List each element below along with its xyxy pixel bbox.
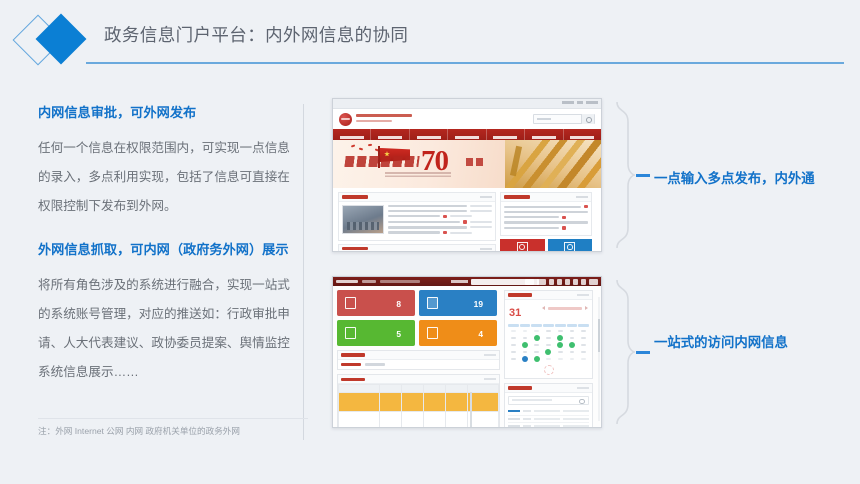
list-search-input[interactable] <box>508 396 589 405</box>
calendar-day[interactable] <box>567 349 578 355</box>
search-label <box>451 280 468 283</box>
calendar-panel: 31 <box>504 290 593 379</box>
dashboard-body: 8 19 5 <box>333 286 601 428</box>
gear-icon <box>517 242 528 252</box>
dashboard-toolbar-icons <box>525 279 598 285</box>
calendar-day-event[interactable] <box>555 342 566 348</box>
table-column-header[interactable] <box>468 385 499 392</box>
calendar-grid <box>505 322 592 365</box>
portal-nav-bar[interactable] <box>333 129 601 140</box>
side-list <box>508 408 589 428</box>
calendar-day-event[interactable] <box>567 342 578 348</box>
grid-icon[interactable] <box>573 279 578 285</box>
quick-action-tiles <box>500 239 592 252</box>
table-header-row <box>339 385 499 392</box>
calendar-day[interactable] <box>508 356 519 362</box>
table-column-header[interactable] <box>339 385 380 392</box>
brace-top <box>614 100 636 250</box>
brace-bottom <box>614 278 636 426</box>
calendar-day[interactable] <box>543 342 554 348</box>
block-tab-label[interactable] <box>504 195 530 198</box>
progress-bar <box>470 411 472 428</box>
refresh-icon[interactable] <box>525 279 534 285</box>
calendar-day-event[interactable] <box>531 356 542 362</box>
weekday-header <box>508 324 519 327</box>
calendar-day[interactable] <box>508 335 519 341</box>
block-body <box>339 202 495 240</box>
table-row[interactable] <box>339 411 499 428</box>
logo <box>18 16 94 64</box>
panel-header <box>505 384 592 393</box>
mail-icon[interactable] <box>557 279 562 285</box>
user-icon[interactable] <box>581 279 586 285</box>
browser-menu-icons <box>562 101 598 104</box>
stat-value: 5 <box>396 329 401 339</box>
chevron-right-icon[interactable] <box>585 306 588 310</box>
more-link[interactable] <box>484 354 496 356</box>
search-icon[interactable] <box>579 399 585 405</box>
more-link[interactable] <box>576 196 588 198</box>
quick-action-tile-affairs[interactable] <box>500 239 545 252</box>
user-icon <box>564 242 575 252</box>
screenshot-government-portal[interactable]: 70 <box>332 98 602 252</box>
callout-label-top: 一点输入多点发布，内外通 <box>654 167 815 187</box>
calendar-day[interactable] <box>555 328 566 334</box>
calendar-day[interactable] <box>567 335 578 341</box>
more-link[interactable] <box>480 196 492 198</box>
list-item[interactable] <box>388 210 492 212</box>
table-row[interactable] <box>339 392 499 411</box>
calendar-month-nav <box>542 303 588 310</box>
heading-external-capture: 外网信息抓取，可内网（政府务外网）展示 <box>38 237 296 263</box>
task-table-panel <box>337 374 500 428</box>
calendar-day[interactable] <box>567 356 578 362</box>
portal-logo-icon <box>339 113 352 126</box>
panel-tab-label[interactable] <box>508 386 532 389</box>
list-item[interactable] <box>504 216 588 219</box>
list-item[interactable] <box>504 211 588 213</box>
search-placeholder <box>512 399 552 401</box>
stat-card-grid: 8 19 5 <box>337 290 500 346</box>
menu-bar-icon <box>586 101 598 104</box>
column-divider <box>303 104 304 440</box>
calendar-day[interactable] <box>508 349 519 355</box>
calendar-badge-icon <box>544 365 554 375</box>
list-item[interactable] <box>388 220 492 223</box>
list-item[interactable] <box>388 205 492 207</box>
calendar-day-event[interactable] <box>543 349 554 355</box>
calendar-day[interactable] <box>520 335 531 341</box>
banner-year-text <box>466 158 485 166</box>
list-item[interactable] <box>504 226 588 229</box>
copy-icon <box>427 327 438 339</box>
paragraph-internal-approval: 任何一个信息在权限范围内，可实现一点信息的录入，多点利用实现，包括了信息可直接在… <box>38 134 296 221</box>
page-header: 政务信息门户平台：内外网信息的协同 <box>0 0 860 78</box>
calendar-day[interactable] <box>520 328 531 334</box>
filter-chip-row <box>338 360 499 369</box>
search-list-panel <box>504 383 593 428</box>
calendar-day[interactable] <box>543 356 554 362</box>
portal-site-name <box>356 114 412 122</box>
callout-connector-bottom <box>636 351 650 354</box>
calendar-day[interactable] <box>531 349 542 355</box>
page-title: 政务信息门户平台：内外网信息的协同 <box>104 22 408 47</box>
list-item[interactable] <box>388 215 492 218</box>
stat-value: 8 <box>396 299 401 309</box>
calendar-month-label <box>548 307 582 310</box>
list-item[interactable] <box>388 231 492 234</box>
birds-icon <box>351 144 381 152</box>
dashboard-top-bar <box>333 277 601 286</box>
chevron-left-icon[interactable] <box>542 306 545 310</box>
list-item[interactable] <box>388 226 492 228</box>
weekday-header <box>567 324 578 327</box>
block-tab-label[interactable] <box>342 247 368 250</box>
calendar-day[interactable] <box>520 349 531 355</box>
calendar-day[interactable] <box>578 328 589 334</box>
monument-illustration <box>505 140 601 188</box>
task-table <box>338 384 499 428</box>
header-divider <box>86 62 844 64</box>
weekday-header <box>555 324 566 327</box>
panel-body <box>505 393 592 428</box>
list-row[interactable] <box>508 408 589 416</box>
folder-icon <box>427 297 438 309</box>
table-column-header[interactable] <box>380 385 402 392</box>
news-thumbnail[interactable] <box>342 205 384 234</box>
list-item[interactable] <box>504 221 588 223</box>
portal-main-column <box>338 192 496 252</box>
block-header <box>501 193 591 202</box>
notice-block[interactable] <box>500 192 592 236</box>
calendar-day[interactable] <box>578 335 589 341</box>
paragraph-external-capture: 将所有角色涉及的系统进行融合，实现一站式的系统账号管理，对应的推送如：行政审批申… <box>38 271 296 387</box>
dashboard-main-column: 8 19 5 <box>337 290 500 428</box>
stat-card-inbox[interactable]: 5 <box>337 320 415 346</box>
portal-content <box>333 188 601 252</box>
calendar-header: 31 <box>505 300 592 322</box>
stat-value: 4 <box>478 329 483 339</box>
calendar-day[interactable] <box>508 328 519 334</box>
filter-panel <box>337 350 500 370</box>
calendar-day-event[interactable] <box>520 342 531 348</box>
menu-bar-icon <box>562 101 574 104</box>
table-column-header[interactable] <box>446 385 468 392</box>
calendar-day[interactable] <box>555 356 566 362</box>
footnote: 注：外网 Internet 公网 内网 政府机关单位的政务外网 <box>38 418 308 438</box>
stat-card-documents[interactable]: 19 <box>419 290 497 316</box>
calendar-day[interactable] <box>578 356 589 362</box>
scrollbar[interactable] <box>598 297 600 421</box>
heading-internal-approval: 内网信息审批，可外网发布 <box>38 100 296 126</box>
calendar-footer <box>505 365 592 378</box>
banner-subtitle-text <box>385 171 451 177</box>
panel-header <box>338 375 499 384</box>
more-link[interactable] <box>480 248 492 250</box>
stat-card-copies[interactable]: 4 <box>419 320 497 346</box>
calendar-day[interactable] <box>543 335 554 341</box>
calendar-day[interactable] <box>531 328 542 334</box>
portal-header <box>333 109 601 129</box>
block-header <box>339 193 495 202</box>
panel-tab-label[interactable] <box>508 293 532 296</box>
table-column-header[interactable] <box>402 385 424 392</box>
panel-tab-label[interactable] <box>341 378 365 381</box>
calendar-day[interactable] <box>543 328 554 334</box>
bell-icon[interactable] <box>549 279 554 285</box>
calendar-day[interactable] <box>578 349 589 355</box>
left-text-column: 内网信息审批，可外网发布 任何一个信息在权限范围内，可实现一点信息的录入，多点利… <box>38 100 296 387</box>
more-link[interactable] <box>577 294 589 296</box>
calendar-day[interactable] <box>508 342 519 348</box>
block-tab-label[interactable] <box>342 195 368 198</box>
panel-tab-label[interactable] <box>341 353 365 356</box>
report-icon <box>345 297 356 309</box>
progress-bar <box>470 392 472 411</box>
calendar-day-event[interactable] <box>531 335 542 341</box>
stat-card-pending-reports[interactable]: 8 <box>337 290 415 316</box>
dashboard-brand <box>336 280 358 283</box>
inbox-icon <box>345 327 356 339</box>
calendar-today-number: 31 <box>509 307 521 319</box>
calendar-day-event[interactable] <box>555 335 566 341</box>
portal-side-column <box>500 192 592 252</box>
stat-value: 19 <box>474 299 483 309</box>
dashboard-breadcrumb <box>380 280 420 283</box>
list-row[interactable] <box>508 423 589 428</box>
weekday-header <box>543 324 554 327</box>
quick-action-tile-service[interactable] <box>548 239 593 252</box>
calendar-day[interactable] <box>555 349 566 355</box>
panel-header <box>505 291 592 300</box>
home-icon[interactable] <box>537 279 546 285</box>
calendar-day[interactable] <box>578 342 589 348</box>
weekday-header <box>578 324 589 327</box>
calendar-day[interactable] <box>531 342 542 348</box>
news-block-featured[interactable] <box>338 192 496 241</box>
list-item[interactable] <box>504 205 588 208</box>
more-link[interactable] <box>577 387 589 389</box>
callout-connector-top <box>636 174 650 177</box>
block-header <box>339 245 495 252</box>
more-link[interactable] <box>484 378 496 380</box>
filter-chip-active[interactable] <box>341 363 361 366</box>
weekday-header <box>520 324 531 327</box>
screenshot-workbench-dashboard[interactable]: 8 19 5 <box>332 276 602 428</box>
calendar-day[interactable] <box>567 328 578 334</box>
list-row[interactable] <box>508 416 589 424</box>
dashboard-side-column: 31 <box>504 290 593 428</box>
callout-label-bottom: 一站式的访问内网信息 <box>654 331 788 351</box>
calendar-day-selected[interactable] <box>520 356 531 362</box>
banner-headline-text <box>344 156 419 167</box>
portal-banner[interactable]: 70 <box>333 140 601 188</box>
block-body <box>501 202 591 235</box>
search-icon[interactable] <box>581 114 594 124</box>
menu-bar-icon <box>577 101 583 104</box>
news-block-secondary[interactable] <box>338 244 496 252</box>
table-column-header[interactable] <box>424 385 446 392</box>
panel-header <box>338 351 499 360</box>
logout-icon[interactable] <box>589 279 598 285</box>
filter-chip[interactable] <box>365 363 385 366</box>
gear-icon[interactable] <box>565 279 570 285</box>
portal-search-input[interactable] <box>533 114 595 124</box>
dashboard-menu-label[interactable] <box>362 280 376 283</box>
browser-chrome <box>333 99 601 109</box>
weekday-header <box>531 324 542 327</box>
